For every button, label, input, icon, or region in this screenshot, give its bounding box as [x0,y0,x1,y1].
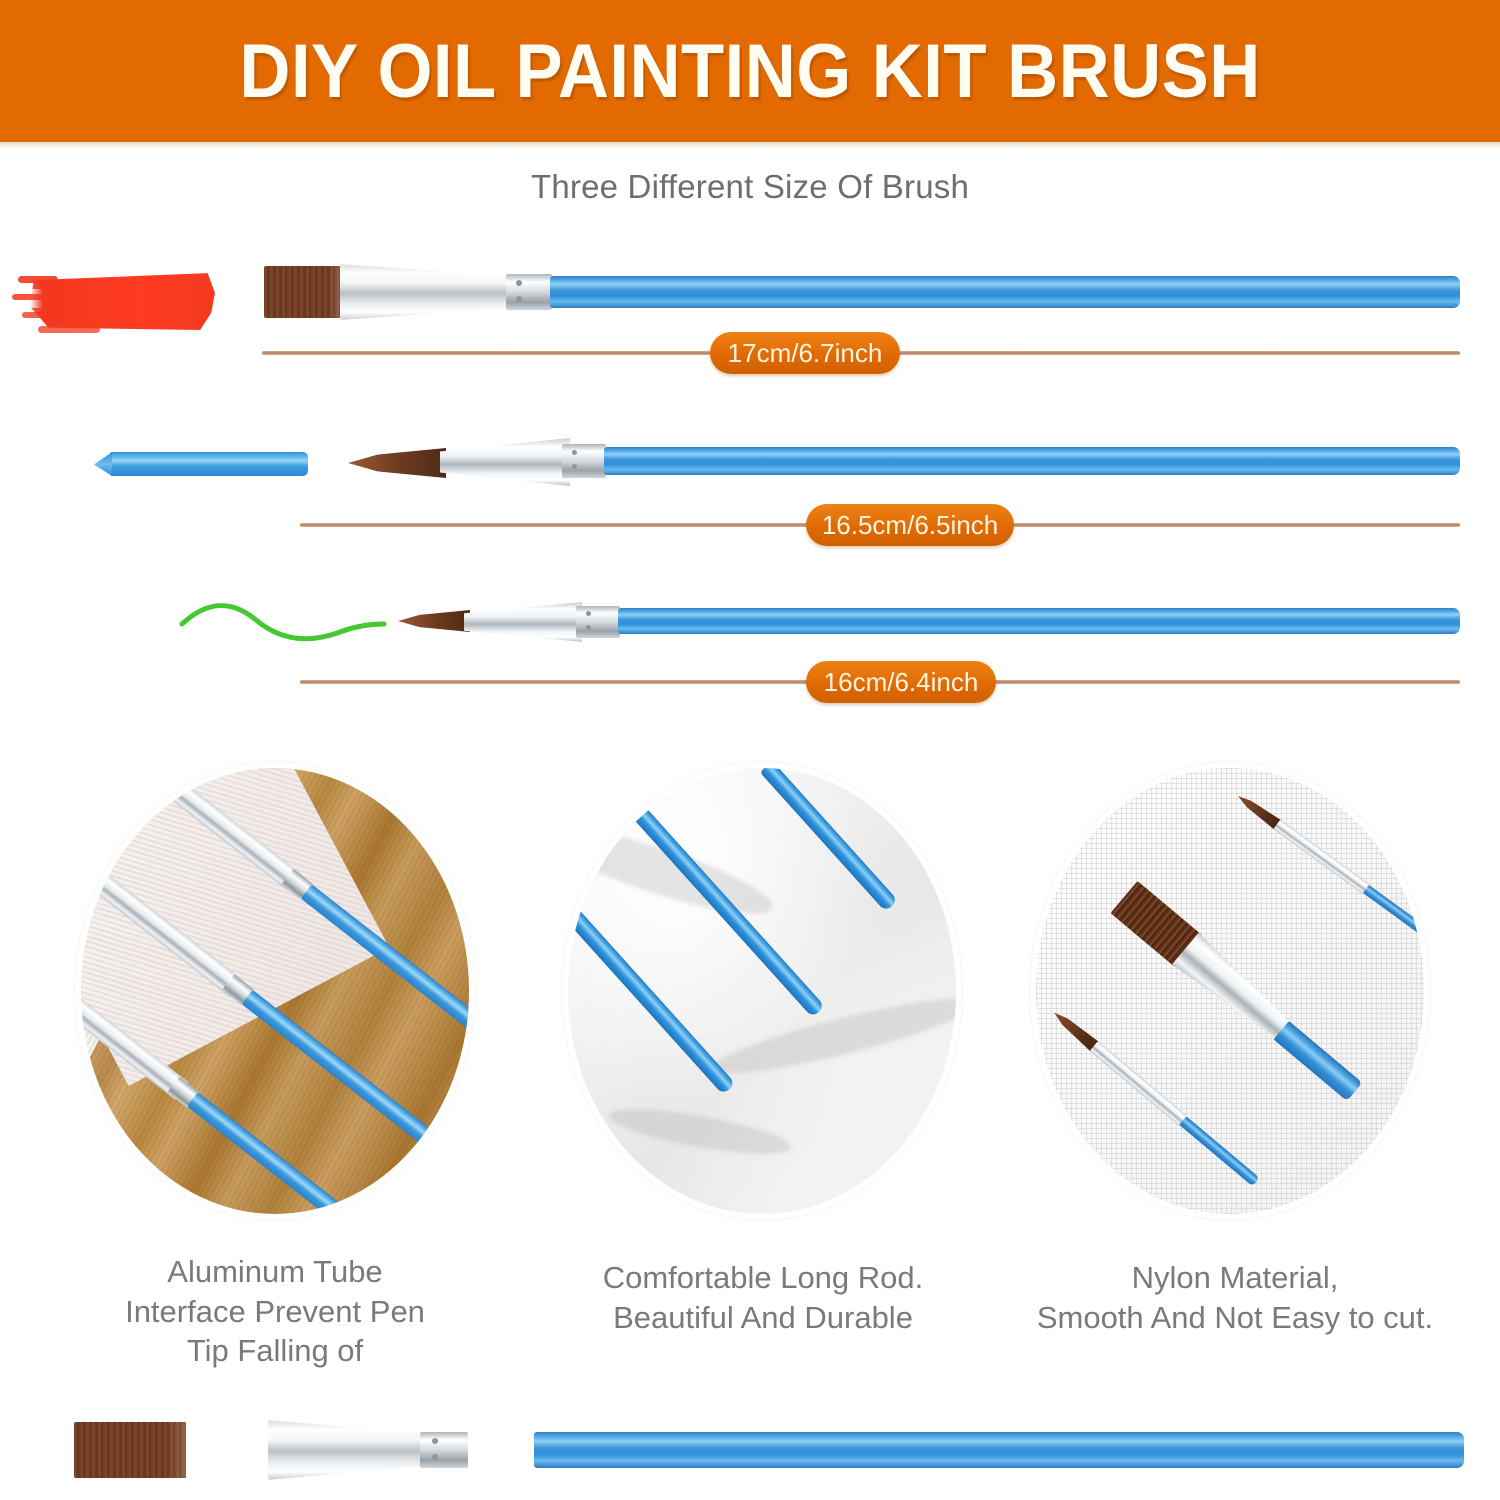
round-bristle-tip [348,448,446,478]
feature-caption-2: Comfortable Long Rod. Beautiful And Dura… [548,1258,978,1337]
exploded-rivet-2 [432,1454,438,1460]
liner-rivet-2 [586,625,591,630]
feature-caption-1: Aluminum Tube Interface Prevent Pen Tip … [60,1252,490,1371]
green-wave-swatch [178,598,388,658]
round-rivet-1 [572,450,577,455]
product-infographic: DIY OIL PAINTING KIT BRUSH Three Differe… [0,0,1500,1500]
brush-row-liner: 16cm/6.4inch [0,580,1500,730]
caption-line: Comfortable Long Rod. [548,1258,978,1298]
flat-brush-handle [550,276,1460,308]
blue-rod-swatch [110,452,308,476]
exploded-brush-strip [0,1400,1500,1500]
brush-row-flat: 17cm/6.7inch [0,250,1500,400]
round-ferrule [440,438,570,486]
flat-ferrule [340,264,515,320]
liner-ferrule-crimp [576,606,620,638]
flat-bristle-head [264,266,342,318]
exploded-handle [534,1432,1464,1468]
ferrule-rivet-1 [516,280,522,286]
liner-bristle-tip [398,610,470,632]
liner-rivet-1 [586,611,591,616]
header-banner: DIY OIL PAINTING KIT BRUSH [0,0,1500,142]
round-ferrule-crimp [562,444,606,478]
measure-pill-liner: 16cm/6.4inch [806,661,996,703]
red-stroke-flick-1 [18,276,58,283]
red-stroke-flick-3 [22,312,66,318]
exploded-bristle-head [74,1422,186,1478]
exploded-ferrule-crimp [420,1432,468,1468]
feature-caption-3: Nylon Material, Smooth And Not Easy to c… [1000,1258,1470,1337]
measure-pill-round: 16.5cm/6.5inch [806,504,1014,546]
feature-photo-marble-rods [562,762,962,1220]
caption-line: Interface Prevent Pen [60,1292,490,1332]
flat-ferrule-crimp [506,274,552,310]
subtitle: Three Different Size Of Brush [0,168,1500,206]
caption-line: Aluminum Tube [60,1252,490,1292]
feature-photo-canvas-brushes [1030,762,1430,1220]
caption-line: Smooth And Not Easy to cut. [1000,1298,1470,1338]
caption-line: Beautiful And Durable [548,1298,978,1338]
exploded-ferrule [268,1420,428,1480]
brush-row-round: 16.5cm/6.5inch [0,420,1500,570]
ferrule-rivet-2 [516,296,522,302]
exploded-rivet-1 [432,1438,438,1444]
round-rivet-2 [572,464,577,469]
measure-pill-flat: 17cm/6.7inch [710,332,900,374]
red-stroke-flick-4 [38,326,100,333]
feature-photo-wood-board [75,762,475,1220]
caption-line: Nylon Material, [1000,1258,1470,1298]
page-title: DIY OIL PAINTING KIT BRUSH [239,28,1260,115]
liner-ferrule [464,602,582,642]
header-shadow [0,142,1500,149]
round-brush-handle [604,447,1460,475]
caption-line: Tip Falling of [60,1331,490,1371]
red-stroke-flick-2 [12,294,64,300]
liner-brush-handle [618,608,1460,634]
